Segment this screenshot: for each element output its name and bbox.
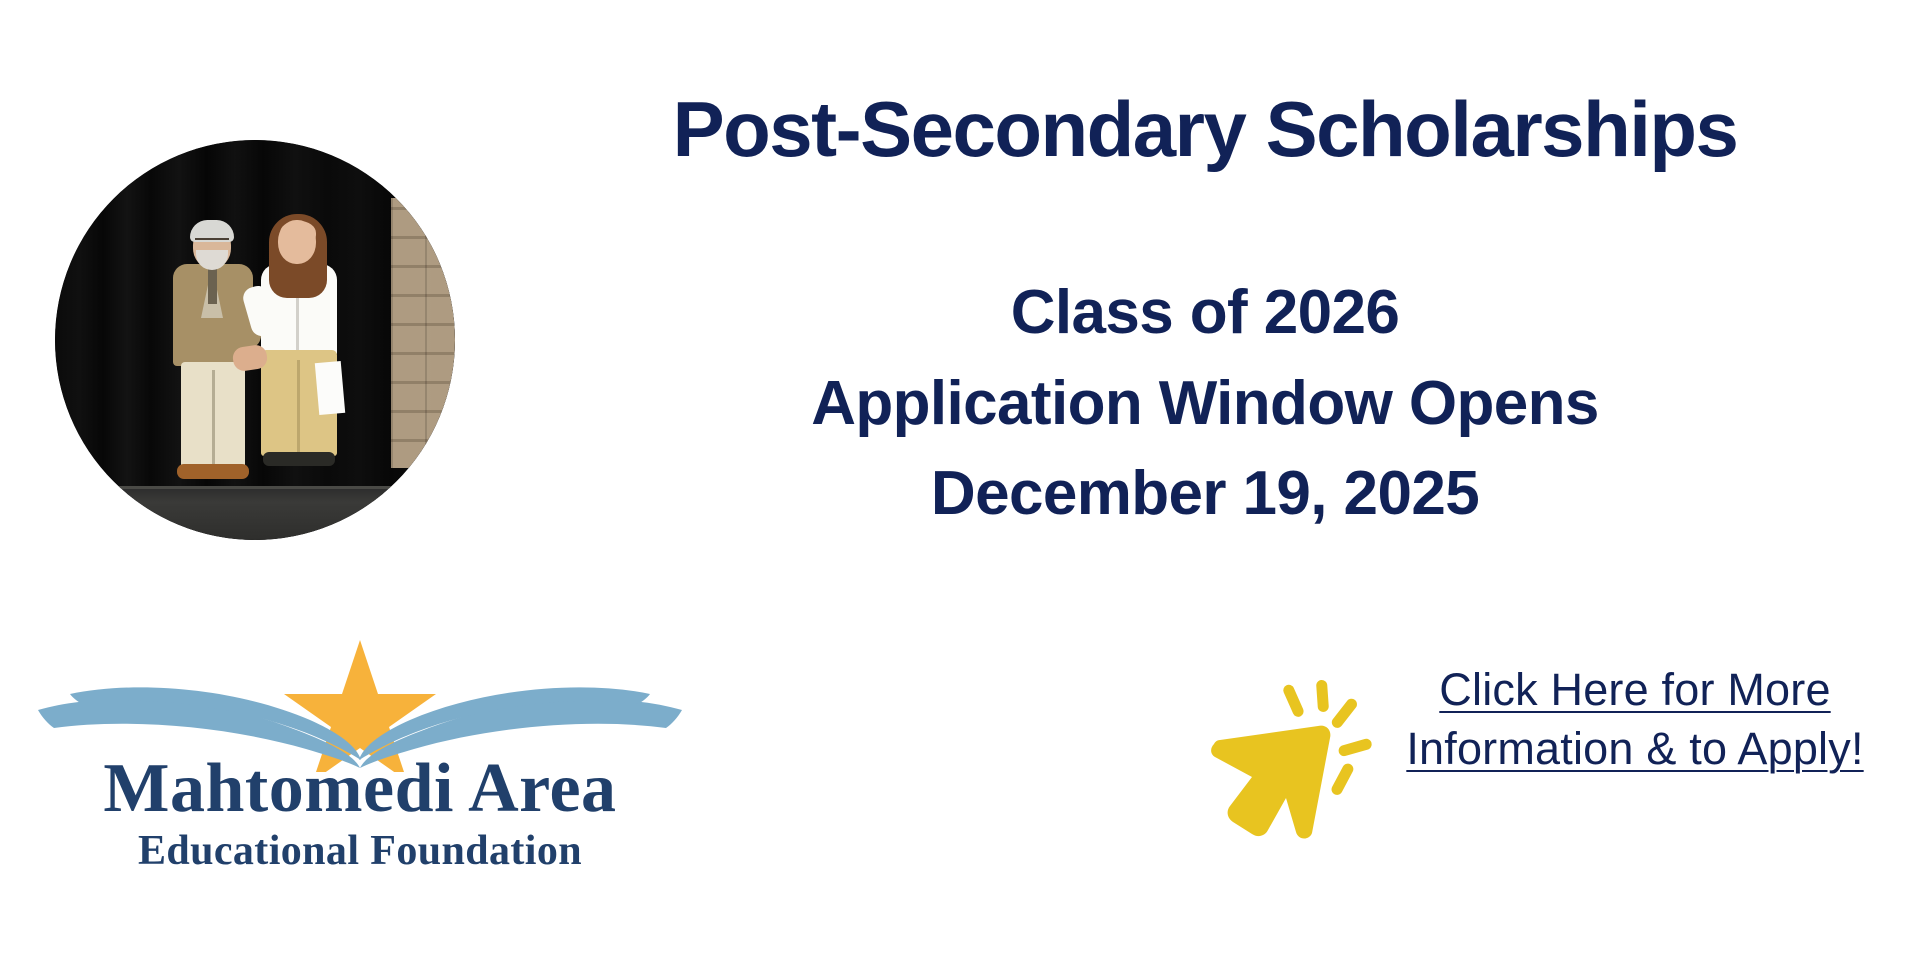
- award-photo: [55, 140, 455, 540]
- foundation-name: Mahtomedi Area: [30, 754, 690, 824]
- foundation-logo: Mahtomedi Area Educational Foundation: [30, 632, 690, 904]
- click-cursor-icon: [1200, 678, 1390, 848]
- photo-image: [55, 140, 455, 540]
- detail-line-class-year: Class of 2026: [520, 268, 1890, 359]
- foundation-wordmark: Mahtomedi Area Educational Foundation: [30, 754, 690, 879]
- brick-wall-backdrop: [391, 198, 455, 468]
- stage-floor: [55, 486, 455, 540]
- announcement-details: Class of 2026 Application Window Opens D…: [520, 268, 1890, 540]
- detail-line-open-date: December 19, 2025: [520, 449, 1890, 540]
- foundation-subtitle: Educational Foundation: [30, 824, 690, 879]
- apply-link[interactable]: Click Here for More Information & to App…: [1390, 660, 1880, 779]
- call-to-action: Click Here for More Information & to App…: [1190, 660, 1890, 890]
- poster-canvas: Post-Secondary Scholarships Class of 202…: [0, 0, 1920, 960]
- detail-line-application-window: Application Window Opens: [520, 359, 1890, 450]
- page-title: Post-Secondary Scholarships: [520, 88, 1890, 171]
